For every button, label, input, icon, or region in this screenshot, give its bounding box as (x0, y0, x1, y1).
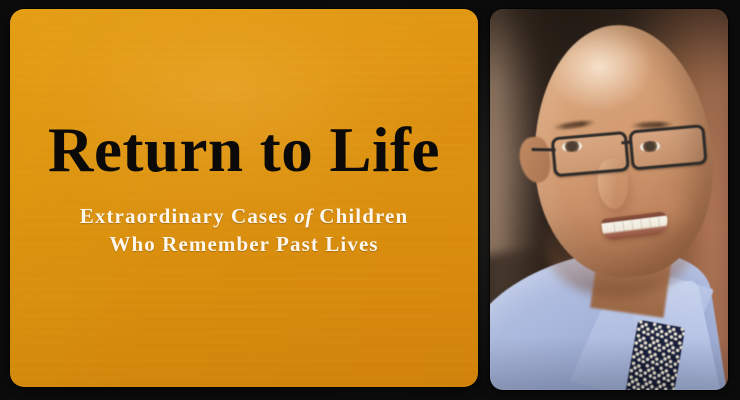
cover-text-block: Return to Life Extraordinary Cases of Ch… (10, 9, 478, 387)
book-subtitle-line-2: Who Remember Past Lives (10, 230, 478, 258)
eyeglasses-lens-right (628, 124, 707, 170)
book-title: Return to Life (10, 117, 478, 183)
book-subtitle-line-1-before: Extraordinary Cases (80, 204, 295, 228)
book-cover-panel: Return to Life Extraordinary Cases of Ch… (10, 9, 478, 387)
book-subtitle-line-1-emphasis: of (294, 204, 313, 228)
book-subtitle-line-1: Extraordinary Cases of Children (10, 202, 478, 230)
book-subtitle-line-1-after: Children (313, 204, 408, 228)
cover-graphic: Return to Life Extraordinary Cases of Ch… (0, 0, 740, 400)
book-subtitle: Extraordinary Cases of Children Who Reme… (10, 202, 478, 258)
teeth (605, 217, 664, 234)
author-portrait-image (490, 9, 728, 390)
author-photo-panel (490, 9, 728, 390)
eyeglasses-lens-left (551, 131, 630, 177)
